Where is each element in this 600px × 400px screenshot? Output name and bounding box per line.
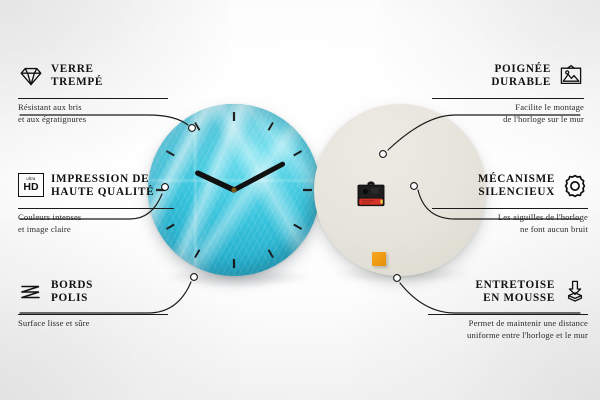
feature-description: Résistant aux bris et aux égratignures	[18, 102, 168, 125]
feature-description: Surface lisse et sûre	[18, 318, 168, 330]
feature-description: Permet de maintenir une distance uniform…	[428, 318, 588, 341]
feature-verre-trempe[interactable]: VERRE TREMPÉ Résistant aux bris et aux é…	[18, 56, 168, 125]
feature-title: BORDS POLIS	[51, 279, 93, 305]
feature-title-line2: SILENCIEUX	[478, 186, 555, 199]
feature-description: Couleurs intenses et image claire	[18, 212, 174, 235]
feature-desc-line2: et image claire	[18, 224, 174, 236]
feature-divider	[18, 314, 168, 315]
polished-edges-icon	[18, 279, 44, 305]
feature-title-line1: POIGNÉE	[491, 63, 551, 76]
feature-divider	[432, 208, 588, 209]
feature-title-line2: HAUTE QUALITÉ	[51, 186, 154, 199]
feature-title-line1: VERRE	[51, 63, 103, 76]
diamond-icon	[18, 63, 44, 89]
feature-title: MÉCANISME SILENCIEUX	[478, 173, 555, 199]
feature-desc-line2: uniforme entre l'horloge et le mur	[428, 330, 588, 342]
feature-desc-line1: Facilite le montage	[432, 102, 584, 114]
feature-bords-polis[interactable]: BORDS POLIS Surface lisse et sûre	[18, 272, 168, 330]
feature-title-line1: MÉCANISME	[478, 173, 555, 186]
feature-mecanisme-silencieux[interactable]: MÉCANISME SILENCIEUX Les aiguilles de l'…	[432, 166, 588, 235]
clock-mechanism	[352, 176, 390, 214]
feature-description: Facilite le montage de l'horloge sur le …	[432, 102, 584, 125]
feature-desc-line1: Résistant aux bris	[18, 102, 168, 114]
feature-poignee-durable[interactable]: POIGNÉE DURABLE Facilite le montage de l…	[432, 56, 584, 125]
feature-description: Les aiguilles de l'horloge ne font aucun…	[432, 212, 588, 235]
feature-divider	[432, 98, 584, 99]
feature-title: IMPRESSION DE HAUTE QUALITÉ	[51, 173, 154, 199]
feature-desc-line1: Permet de maintenir une distance	[428, 318, 588, 330]
feature-desc-line2: de l'horloge sur le mur	[432, 114, 584, 126]
feature-title-line1: ENTRETOISE	[475, 279, 555, 292]
ultra-hd-icon: ultra HD	[18, 173, 44, 199]
feature-title-line2: POLIS	[51, 292, 93, 305]
feature-title-line2: DURABLE	[491, 76, 551, 89]
feature-divider	[18, 208, 174, 209]
feature-impression-haute-qualite[interactable]: ultra HD IMPRESSION DE HAUTE QUALITÉ Cou…	[18, 166, 174, 235]
feature-title: POIGNÉE DURABLE	[491, 63, 551, 89]
product-infographic: VERRE TREMPÉ Résistant aux bris et aux é…	[0, 0, 600, 400]
foam-spacer-icon	[562, 279, 588, 305]
feature-title-line2: TREMPÉ	[51, 76, 103, 89]
gear-icon	[562, 173, 588, 199]
feature-desc-line1: Couleurs intenses	[18, 212, 174, 224]
battery	[359, 199, 383, 205]
feature-entretoise-en-mousse[interactable]: ENTRETOISE EN MOUSSE Permet de maintenir…	[428, 272, 588, 341]
feature-title-line1: IMPRESSION DE	[51, 173, 154, 186]
picture-hanger-icon	[558, 63, 584, 89]
ultra-hd-icon-main-label: HD	[23, 182, 38, 193]
feature-title: ENTRETOISE EN MOUSSE	[475, 279, 555, 305]
feature-title: VERRE TREMPÉ	[51, 63, 103, 89]
feature-divider	[18, 98, 168, 99]
feature-desc-line1: Surface lisse et sûre	[18, 318, 168, 330]
feature-title-line1: BORDS	[51, 279, 93, 292]
foam-spacer-sticker	[372, 252, 386, 266]
feature-divider	[428, 314, 588, 315]
feature-desc-line2: et aux égratignures	[18, 114, 168, 126]
feature-title-line2: EN MOUSSE	[475, 292, 555, 305]
feature-desc-line1: Les aiguilles de l'horloge	[432, 212, 588, 224]
feature-desc-line2: ne font aucun bruit	[432, 224, 588, 236]
